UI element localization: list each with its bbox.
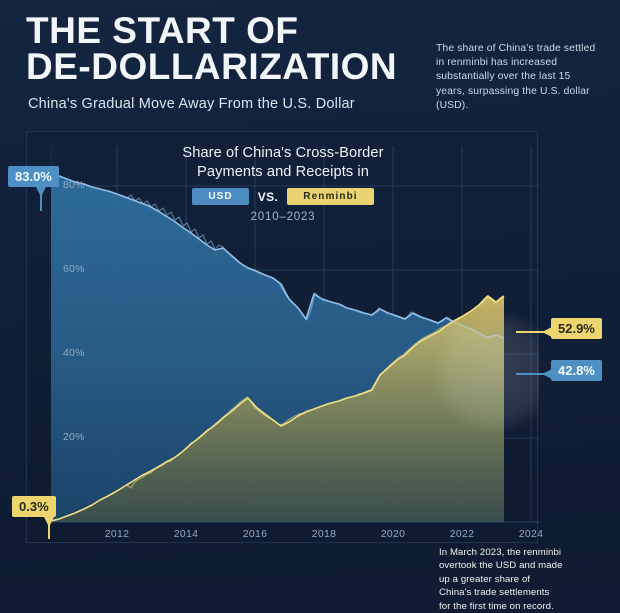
crossover-annotation: In March 2023, the renminbi overtook the… bbox=[439, 546, 563, 613]
page-subtitle: China's Gradual Move Away From the U.S. … bbox=[28, 96, 426, 112]
callout-rmb-end: 52.9% bbox=[551, 318, 602, 339]
x-tick-2020: 2020 bbox=[381, 528, 406, 540]
callout-usd-start-stem bbox=[36, 187, 46, 211]
page-title-line1: THE START OF bbox=[26, 8, 426, 49]
x-tick-2014: 2014 bbox=[174, 528, 199, 540]
callout-usd-start: 83.0% bbox=[8, 166, 59, 187]
callout-rmb-end-stem bbox=[516, 327, 552, 337]
x-tick-2016: 2016 bbox=[243, 528, 268, 540]
x-tick-2024: 2024 bbox=[519, 528, 544, 540]
page-title-line2: DE-DOLLARIZATION bbox=[26, 49, 426, 85]
chart-plot-area: 80% 60% 40% 20% 2012 2014 2016 2018 2020… bbox=[27, 132, 539, 544]
infographic-root: THE START OF DE-DOLLARIZATION China's Gr… bbox=[0, 0, 620, 579]
y-tick-20: 20% bbox=[63, 431, 85, 443]
chart-panel: 80% 60% 40% 20% 2012 2014 2016 2018 2020… bbox=[26, 131, 538, 543]
header: THE START OF DE-DOLLARIZATION China's Gr… bbox=[0, 0, 620, 122]
callout-rmb-start-stem bbox=[44, 517, 54, 539]
callout-rmb-start: 0.3% bbox=[12, 496, 56, 517]
y-tick-40: 40% bbox=[63, 347, 85, 359]
x-tick-2022: 2022 bbox=[450, 528, 475, 540]
chart-svg bbox=[27, 132, 539, 544]
y-tick-60: 60% bbox=[63, 263, 85, 275]
y-tick-80: 80% bbox=[63, 179, 85, 191]
x-tick-2018: 2018 bbox=[312, 528, 337, 540]
header-lede-text: The share of China's trade settled in re… bbox=[436, 42, 602, 113]
x-tick-2012: 2012 bbox=[105, 528, 130, 540]
title-block: THE START OF DE-DOLLARIZATION China's Gr… bbox=[26, 8, 426, 112]
callout-usd-end-stem bbox=[516, 369, 552, 379]
callout-usd-end: 42.8% bbox=[551, 360, 602, 381]
